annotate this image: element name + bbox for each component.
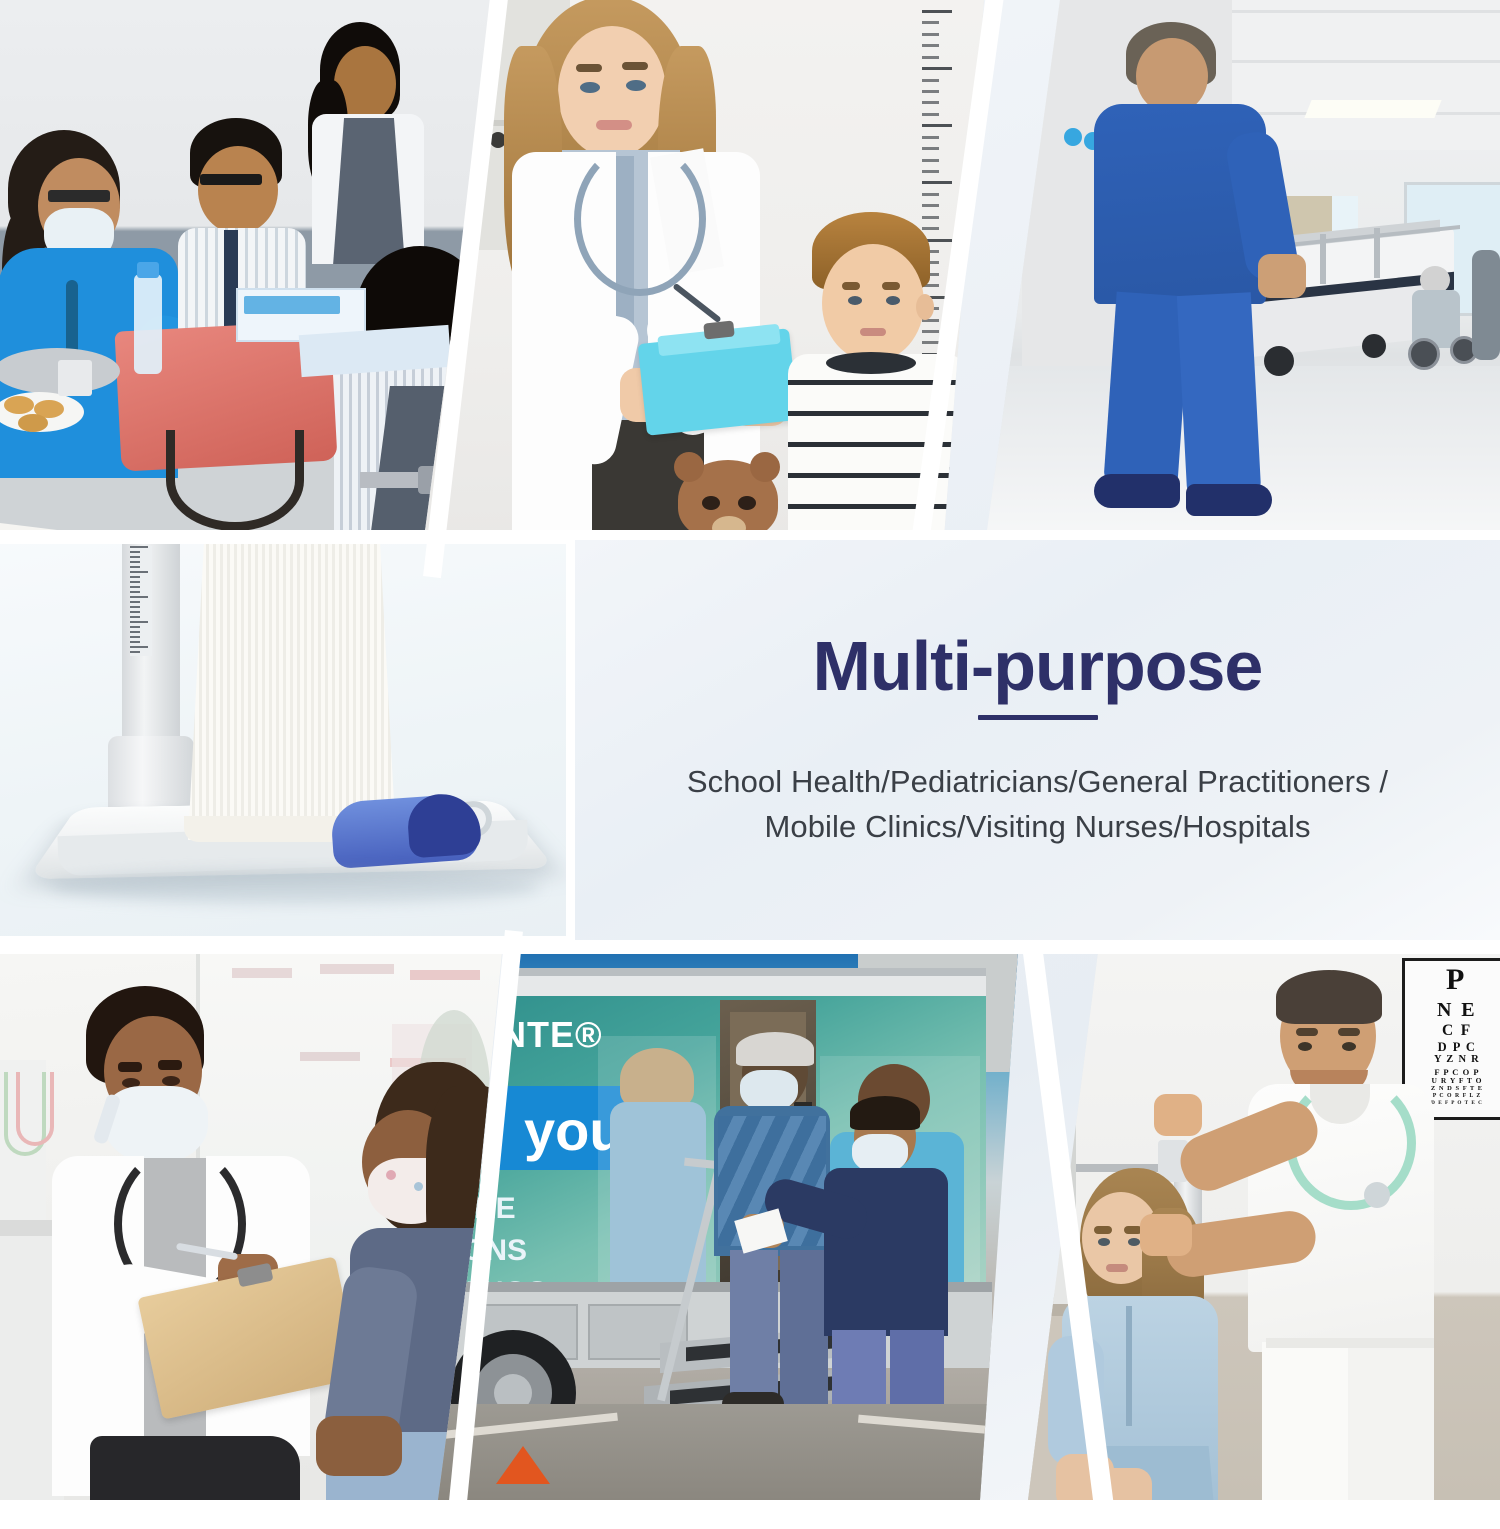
panel-mobile-clinic-truck: NTE® you RE ONS NINGS [438,952,1018,1500]
eye-chart-row: Y Z N R [1434,1055,1480,1066]
headline-band: Multi-purpose School Health/Pediatrician… [575,540,1500,940]
eye-chart-row: U R Y F T O [1432,1077,1483,1085]
subtitle-line-1: School Health/Pediatricians/General Prac… [687,760,1388,804]
eye-chart-row: P [1446,965,1468,995]
eye-chart-row: N E [1437,1000,1477,1020]
panel-product-stadiometer-base [0,540,575,940]
panel-pediatrician-height-check [424,0,984,538]
eye-chart-row: D E F P O T E C [1431,1101,1483,1106]
product-collage: NTE® you RE ONS NINGS [0,0,1500,1500]
page-title: Multi-purpose [813,631,1263,701]
truck-brand-text: NTE® [500,1014,603,1056]
eye-chart-row: F P C O P [1434,1068,1479,1077]
eye-chart-row: Z N D S F T E [1431,1086,1483,1093]
eye-chart-row: D P C [1438,1041,1477,1054]
panel-hospital-corridor [968,0,1500,538]
panel-nurse-measuring-child: PN EC FD P CY Z N RF P C O PU R Y F T OZ… [1006,952,1500,1500]
subtitle-line-2: Mobile Clinics/Visiting Nurses/Hospitals [764,805,1310,849]
title-underline [978,715,1098,720]
eye-chart-row: P C O R F L Z [1433,1094,1482,1100]
eye-chart-row: C F [1442,1023,1472,1039]
